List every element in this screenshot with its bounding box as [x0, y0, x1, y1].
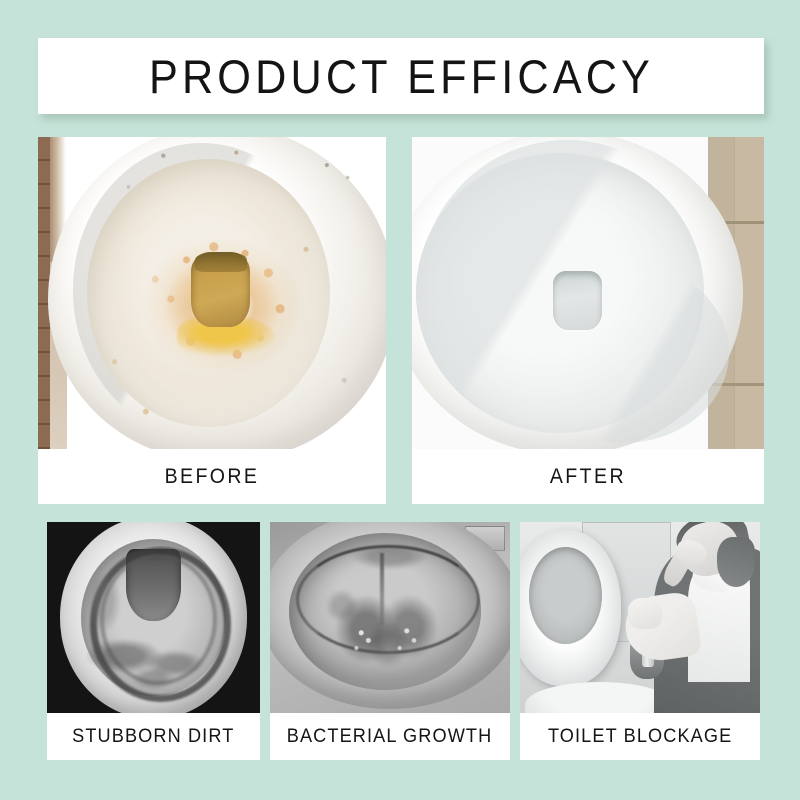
- after-card: AFTER: [412, 137, 764, 504]
- title-banner: PRODUCT EFFICACY: [38, 38, 764, 114]
- before-caption: BEFORE: [38, 449, 386, 504]
- bacterial-growth-card: BACTERIAL GROWTH: [270, 522, 510, 760]
- bacterial-growth-label: BACTERIAL GROWTH: [287, 725, 493, 748]
- stubborn-dirt-label: STUBBORN DIRT: [72, 725, 234, 748]
- after-caption-label: AFTER: [550, 465, 626, 489]
- product-efficacy-poster: PRODUCT EFFICACY BEFORE: [0, 0, 800, 800]
- after-caption: AFTER: [412, 449, 764, 504]
- person-hand: [628, 598, 662, 629]
- before-card: BEFORE: [38, 137, 386, 504]
- shadow-wedge-lower: [518, 262, 729, 443]
- toilet-blockage-photo: [520, 522, 760, 713]
- stubborn-dirt-caption: STUBBORN DIRT: [47, 713, 260, 760]
- dirty-toilet-bowl-photo: [38, 137, 386, 449]
- dirt-smudges: [47, 522, 260, 713]
- stubborn-dirt-card: STUBBORN DIRT: [47, 522, 260, 760]
- toilet-lid: [520, 530, 621, 687]
- toilet-blockage-card: TOILET BLOCKAGE: [520, 522, 760, 760]
- clean-toilet-bowl-photo: [412, 137, 764, 449]
- bacteria-specks: [270, 522, 510, 713]
- toilet-blockage-label: TOILET BLOCKAGE: [548, 725, 732, 748]
- bacterial-growth-photo: [270, 522, 510, 713]
- dirt-specks: [38, 137, 386, 449]
- stubborn-dirt-photo: [47, 522, 260, 713]
- page-title: PRODUCT EFFICACY: [148, 49, 653, 104]
- before-caption-label: BEFORE: [165, 465, 260, 489]
- bacterial-growth-caption: BACTERIAL GROWTH: [270, 713, 510, 760]
- drain-hole: [553, 271, 602, 330]
- person-hair-side: [717, 537, 755, 587]
- toilet-blockage-caption: TOILET BLOCKAGE: [520, 713, 760, 760]
- toilet-bowl-rim: [525, 682, 674, 713]
